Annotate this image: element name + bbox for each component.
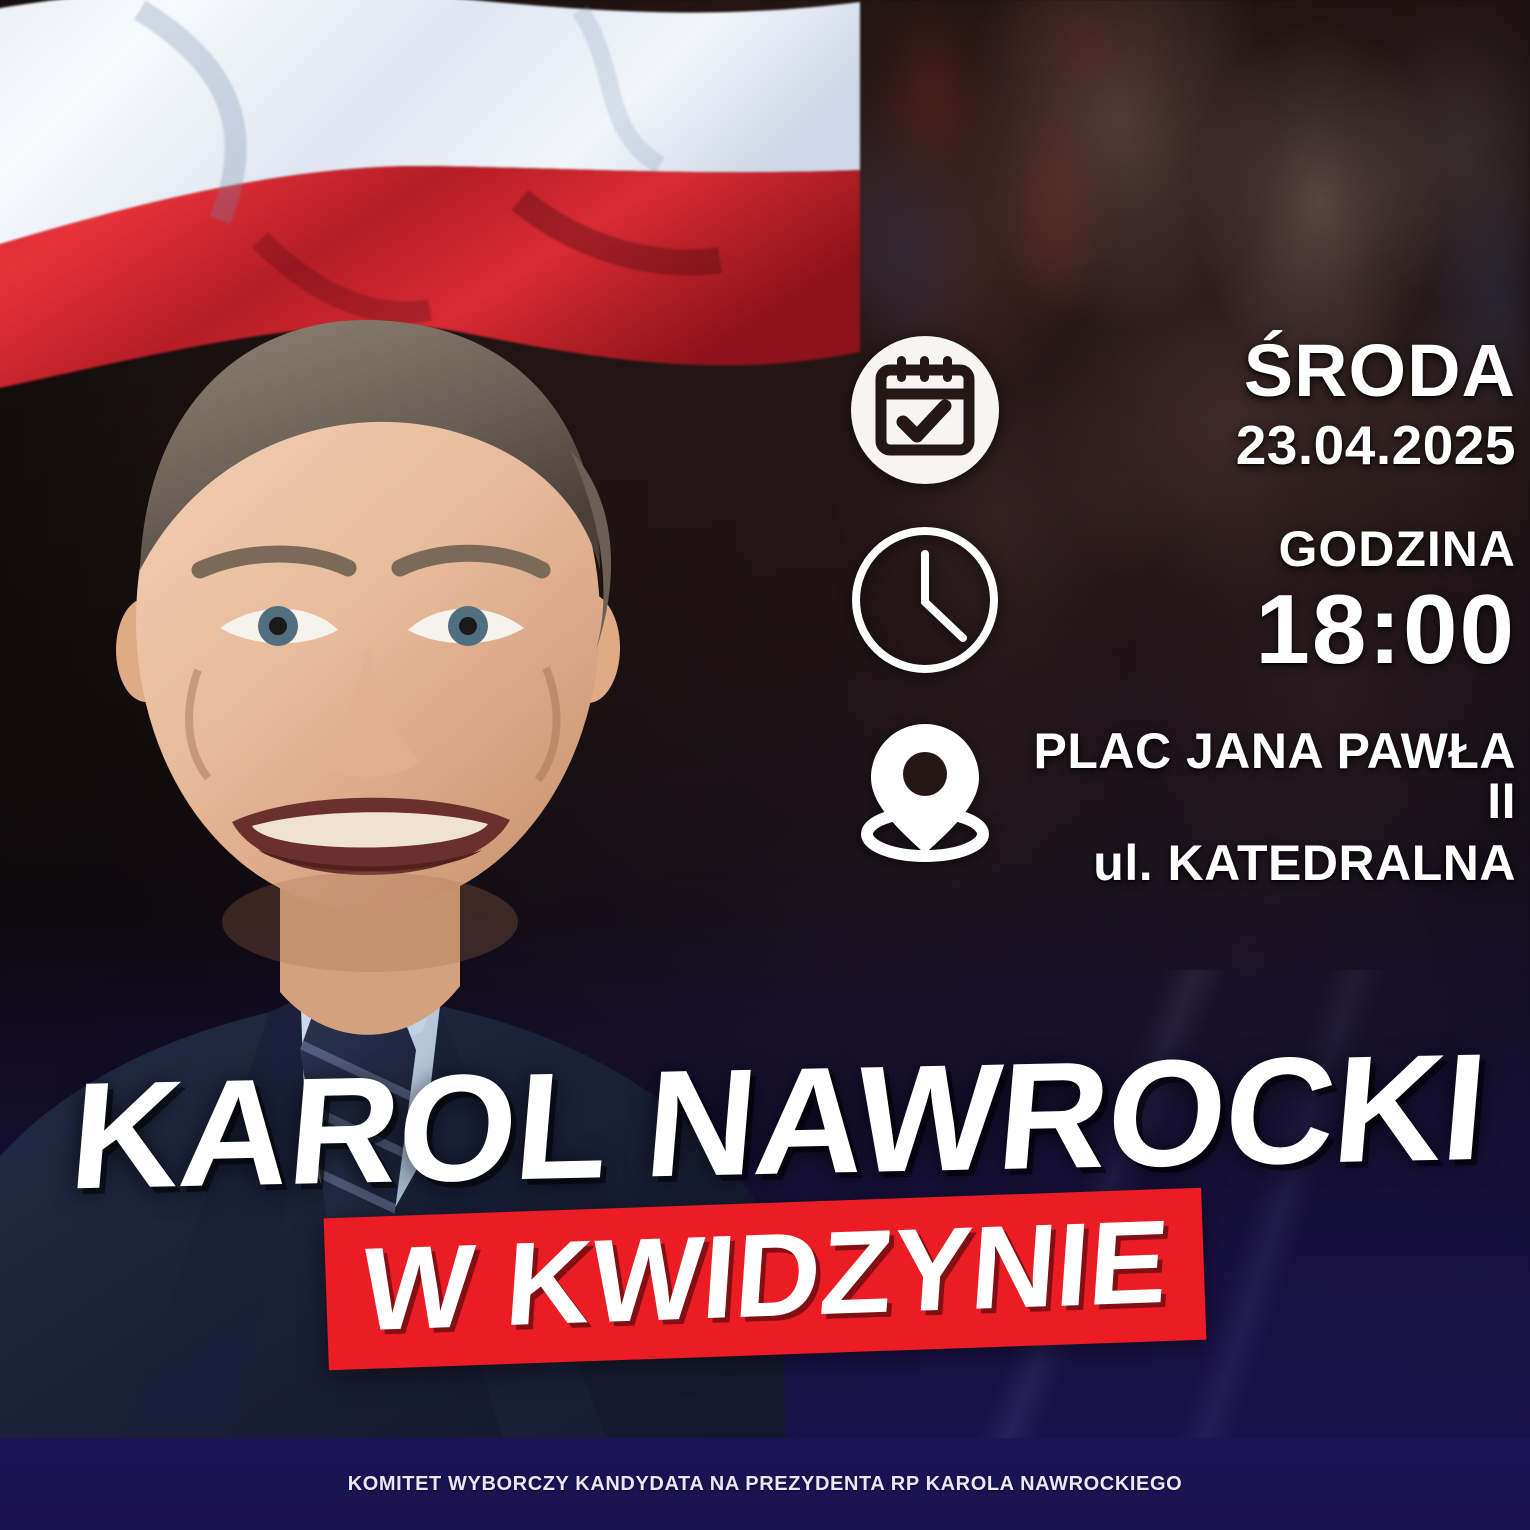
event-time-label: GODZINA: [1029, 524, 1516, 574]
calendar-check-icon: [845, 330, 1005, 490]
venue-underline: [1025, 816, 1520, 826]
map-pin-icon: [845, 708, 1005, 868]
event-time-value: 18:00: [1255, 580, 1516, 678]
event-time-row: GODZINA 18:00: [845, 520, 1530, 680]
headline-block: KAROL NAWROCKI W KWIDZYNIE: [0, 1053, 1530, 1355]
candidate-name: KAROL NAWROCKI: [0, 1037, 1530, 1209]
event-place-row: PLAC JANA PAWŁA II ul. KATEDRALNA: [845, 708, 1530, 888]
clock-icon: [845, 520, 1005, 680]
city-name: W KWIDZYNIE: [358, 1203, 1172, 1349]
footer-band: KOMITET WYBORCZY KANDYDATA NA PREZYDENTA…: [0, 1438, 1530, 1530]
committee-disclaimer: KOMITET WYBORCZY KANDYDATA NA PREZYDENTA…: [348, 1473, 1183, 1496]
event-venue: PLAC JANA PAWŁA II: [1029, 726, 1516, 826]
event-date-row: ŚRODA 23.04.2025: [845, 330, 1530, 490]
event-details-panel: ŚRODA 23.04.2025 GODZINA 18:: [845, 330, 1530, 932]
city-highlight-box: W KWIDZYNIE: [323, 1188, 1206, 1371]
event-day-label: ŚRODA: [1029, 334, 1516, 408]
campaign-poster: ŚRODA 23.04.2025 GODZINA 18:: [0, 0, 1530, 1530]
event-street: ul. KATEDRALNA: [1029, 838, 1516, 888]
event-date-value: 23.04.2025: [1236, 418, 1516, 473]
